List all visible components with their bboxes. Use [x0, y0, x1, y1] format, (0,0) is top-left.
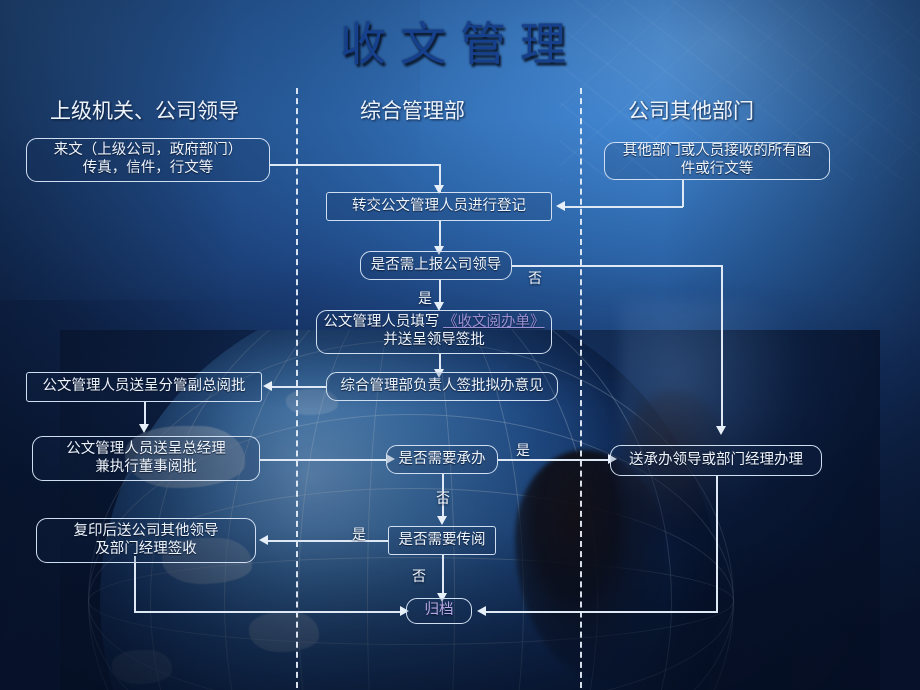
connector-handler-to-archive: [486, 611, 718, 613]
node-to-vice-gm[interactable]: 公文管理人员送呈分管副总阅批: [26, 372, 262, 402]
node-need-report-label: 是否需上报公司领导: [371, 257, 502, 275]
connector-copy-down: [134, 556, 136, 612]
branch-label-handle-no: 否: [436, 488, 450, 508]
arrow-vicegm-to-gm: [139, 424, 149, 433]
node-to-gm[interactable]: 公文管理人员送呈总经理 兼执行董事阅批: [32, 436, 260, 481]
branch-label-circulate-yes: 是: [352, 524, 366, 544]
arrow-gmsign-to-vicegm: [263, 381, 272, 391]
node-other-dept-doc[interactable]: 其他部门或人员接收的所有函 件或行文等: [604, 142, 830, 180]
connector-needcirculate-no: [442, 555, 444, 598]
connector-handler-down: [716, 476, 718, 612]
node-archive[interactable]: 归档: [406, 598, 472, 624]
connector-otherdept-down: [682, 180, 684, 207]
arrow-needcirculate-yes: [259, 535, 268, 545]
node-copy-to-leaders-line2: 及部门经理签收: [95, 541, 197, 557]
lane-header-general-management: 综合管理部: [360, 95, 465, 125]
node-incoming-doc[interactable]: 来文（上级公司，政府部门） 传真，信件，行文等: [26, 138, 270, 182]
arrow-otherdept-to-register: [556, 201, 565, 211]
connector-copy-to-archive: [134, 611, 402, 613]
node-need-report[interactable]: 是否需上报公司领导: [360, 251, 512, 280]
page-title: 收文管理: [0, 8, 920, 74]
node-fill-form-prefix: 公文管理人员填写: [323, 314, 443, 330]
node-copy-to-leaders[interactable]: 复印后送公司其他领导 及部门经理签收: [36, 518, 256, 563]
node-fill-form-line2: 并送呈领导签批: [383, 332, 485, 348]
connector-otherdept-to-register: [565, 206, 683, 208]
connector-needreport-no-v: [721, 265, 723, 430]
connector-incoming-to-register: [270, 164, 440, 166]
connector-togm-to-needhandle: [259, 459, 387, 461]
receive-doc-form-link[interactable]: 《收文阅办单》: [443, 314, 545, 330]
node-fill-form[interactable]: 公文管理人员填写 《收文阅办单》 并送呈领导签批: [316, 310, 552, 354]
node-need-handle-label: 是否需要承办: [399, 451, 486, 469]
lane-header-superior: 上级机关、公司领导: [50, 95, 239, 125]
arrow-needreport-no: [716, 426, 726, 435]
node-need-handle[interactable]: 是否需要承办: [386, 445, 498, 474]
node-other-dept-doc-line1: 其他部门或人员接收的所有函: [623, 143, 812, 159]
arrow-needhandle-no: [437, 516, 447, 525]
lane-header-other-departments: 公司其他部门: [628, 95, 754, 125]
node-gm-dept-sign[interactable]: 综合管理部负责人签批拟办意见: [326, 372, 558, 401]
lane-separator-left: [296, 88, 298, 688]
lane-separator-right: [580, 88, 582, 688]
node-register[interactable]: 转交公文管理人员进行登记: [326, 192, 552, 221]
node-archive-label: 归档: [425, 602, 454, 620]
node-copy-to-leaders-line1: 复印后送公司其他领导: [74, 523, 219, 539]
node-to-gm-line1: 公文管理人员送呈总经理: [66, 441, 226, 457]
branch-label-report-yes: 是: [418, 288, 432, 308]
node-incoming-doc-line2: 传真，信件，行文等: [83, 160, 214, 176]
node-need-circulate-label: 是否需要传阅: [399, 532, 486, 550]
branch-label-circulate-no: 否: [412, 566, 426, 586]
node-to-vice-gm-label: 公文管理人员送呈分管副总阅批: [43, 378, 246, 396]
connector-needcirculate-yes: [268, 540, 388, 542]
node-need-circulate[interactable]: 是否需要传阅: [388, 526, 496, 555]
arrow-handler-to-archive: [477, 606, 486, 616]
node-send-to-handler-label: 送承办领导或部门经理办理: [629, 452, 803, 470]
connector-needhandle-yes: [498, 459, 610, 461]
node-register-label: 转交公文管理人员进行登记: [352, 198, 526, 216]
branch-label-report-no: 否: [528, 268, 542, 288]
node-send-to-handler[interactable]: 送承办领导或部门经理办理: [610, 445, 822, 476]
node-gm-dept-sign-label: 综合管理部负责人签批拟办意见: [341, 378, 544, 396]
node-incoming-doc-line1: 来文（上级公司，政府部门）: [54, 142, 243, 158]
node-other-dept-doc-line2: 件或行文等: [681, 161, 754, 177]
slide-canvas: 收文管理 上级机关、公司领导 综合管理部 公司其他部门: [0, 0, 920, 690]
connector-needreport-no: [512, 265, 722, 267]
branch-label-handle-yes: 是: [516, 440, 530, 460]
node-to-gm-line2: 兼执行董事阅批: [95, 459, 197, 475]
connector-gmsign-to-vicegm: [272, 386, 326, 388]
